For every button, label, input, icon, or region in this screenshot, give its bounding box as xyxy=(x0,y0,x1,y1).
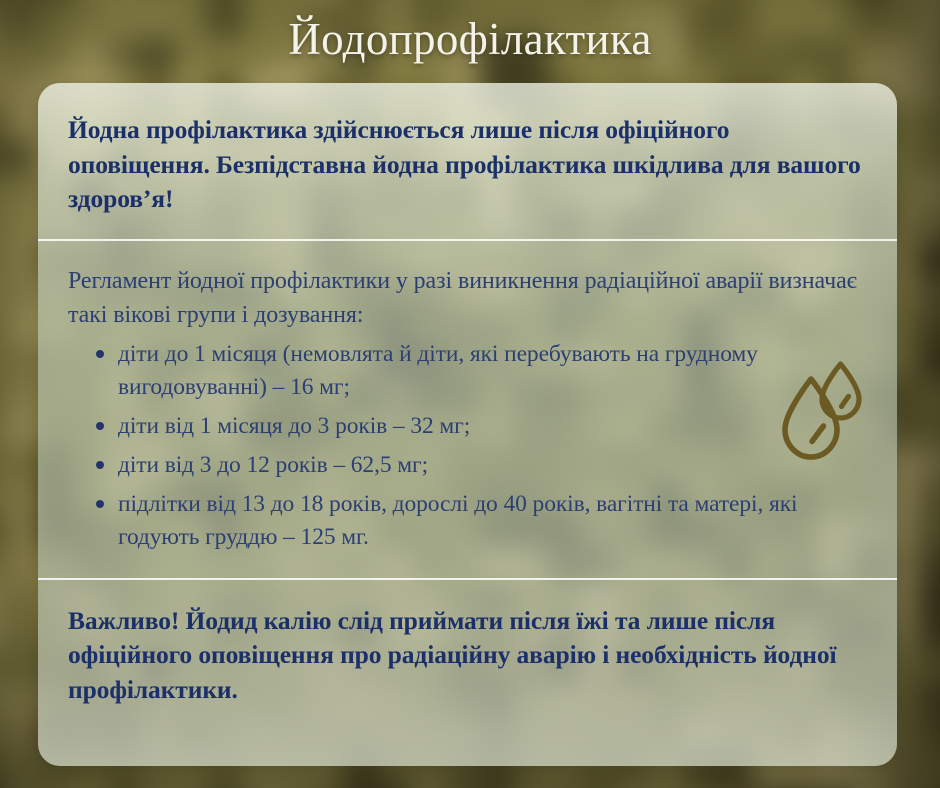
regulation-intro: Регламент йодної профілактики у разі вин… xyxy=(68,264,867,332)
regulation-section: Регламент йодної профілактики у разі вин… xyxy=(38,241,897,578)
list-item: діти від 3 до 12 років – 62,5 мг; xyxy=(94,449,867,482)
bullet-icon xyxy=(96,500,104,508)
dosage-list: діти до 1 місяця (немовлята й діти, які … xyxy=(68,338,867,553)
important-section: Важливо! Йодид калію слід приймати після… xyxy=(38,580,897,734)
list-item: діти до 1 місяця (немовлята й діти, які … xyxy=(94,338,867,404)
list-item: діти від 1 місяця до 3 років – 32 мг; xyxy=(94,410,867,443)
bullet-icon xyxy=(96,461,104,469)
bullet-icon xyxy=(96,350,104,358)
page-title: Йодопрофілактика xyxy=(0,13,940,65)
dosage-text: діти від 1 місяця до 3 років – 32 мг; xyxy=(118,413,470,439)
important-text: Важливо! Йодид калію слід приймати після… xyxy=(68,604,867,708)
list-item: підлітки від 13 до 18 років, дорослі до … xyxy=(94,488,867,554)
dosage-text: діти до 1 місяця (немовлята й діти, які … xyxy=(118,341,758,400)
poster-page: Йодопрофілактика Йодна профілактика здій… xyxy=(0,0,940,788)
warning-section: Йодна профілактика здійснюється лише піс… xyxy=(38,83,897,239)
warning-text: Йодна профілактика здійснюється лише піс… xyxy=(68,113,867,217)
dosage-text: підлітки від 13 до 18 років, дорослі до … xyxy=(118,491,797,550)
content-card: Йодна профілактика здійснюється лише піс… xyxy=(38,83,897,766)
dosage-text: діти від 3 до 12 років – 62,5 мг; xyxy=(118,452,428,478)
bullet-icon xyxy=(96,422,104,430)
